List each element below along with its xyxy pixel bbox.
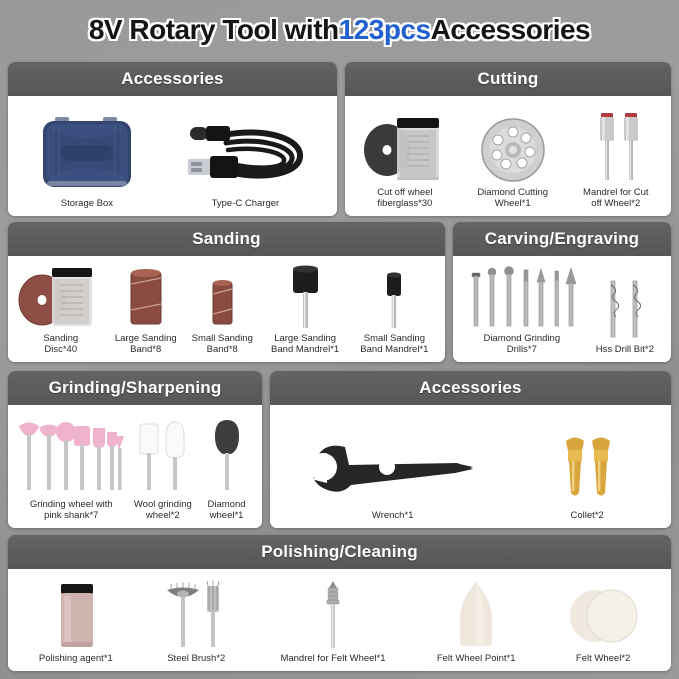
item-hss-drill-bits[interactable]: Hss Drill Bit*2 — [588, 260, 662, 356]
title-part-1: 8V Rotary Tool with — [89, 14, 339, 46]
cut-off-wheel-with-jar-icon — [353, 100, 457, 184]
item-caption: Sanding Disc*40 — [43, 330, 78, 356]
item-type-c-charger[interactable]: Type-C Charger — [163, 100, 328, 210]
large-sanding-band-mandrel-icon — [261, 260, 350, 330]
panel-header: Carving/Engraving — [453, 222, 671, 256]
usb-c-plug — [190, 126, 230, 141]
panel-accessories-mid: Accessories Wrench*1 — [270, 371, 671, 528]
item-caption: Diamond wheel*1 — [208, 496, 246, 522]
panel-header: Grinding/Sharpening — [8, 371, 262, 405]
item-sanding-disc[interactable]: Sanding Disc*40 — [14, 260, 108, 356]
item-large-band-mandrel[interactable]: Large Sanding Band Mandrel*1 — [261, 260, 350, 356]
panel-body: Sanding Disc*40 Large Sanding Band*8 — [8, 256, 445, 362]
item-diamond-grinding-drills[interactable]: Diamond Grinding Drills*7 — [462, 260, 581, 356]
item-cut-off-wheel[interactable]: Cut off wheel fiberglass*30 — [353, 100, 457, 210]
item-mandrel-cut-off[interactable]: Mandrel for Cut off Wheel*2 — [569, 100, 663, 210]
panel-body: Grinding wheel with pink shank*7 — [8, 405, 262, 528]
item-caption: Felt Wheel Point*1 — [437, 650, 516, 665]
steel-brushes-icon — [138, 573, 255, 650]
item-felt-wheels[interactable]: Felt Wheel*2 — [541, 573, 665, 665]
type-c-charger-icon — [163, 100, 328, 195]
panel-header: Cutting — [345, 62, 671, 96]
item-caption: Polishing agent*1 — [39, 650, 113, 665]
panel-header: Accessories — [270, 371, 671, 405]
panel-header: Polishing/Cleaning — [8, 535, 671, 569]
usb-a-plug — [188, 156, 238, 178]
item-collet[interactable]: Collet*2 — [519, 409, 655, 522]
item-diamond-wheel[interactable]: Diamond wheel*1 — [198, 409, 256, 522]
small-sanding-band-icon — [184, 260, 261, 330]
item-caption: Storage Box — [61, 195, 113, 210]
panel-body: Diamond Grinding Drills*7 — [453, 256, 671, 362]
item-pink-grinding-wheels[interactable]: Grinding wheel with pink shank*7 — [14, 409, 128, 522]
storage-box-icon — [17, 100, 156, 195]
panel-carving-engraving: Carving/Engraving — [453, 222, 671, 362]
item-wrench[interactable]: Wrench*1 — [286, 409, 500, 522]
panel-accessories-top: Accessories — [8, 62, 337, 216]
item-caption: Grinding wheel with pink shank*7 — [30, 496, 113, 522]
panel-body: Wrench*1 — [270, 405, 671, 528]
item-caption: Collet*2 — [571, 507, 604, 522]
collet-pair-icon — [519, 409, 655, 507]
small-sanding-band-mandrel-icon — [350, 260, 439, 330]
large-sanding-band-icon — [108, 260, 185, 330]
panel-cutting: Cutting — [345, 62, 671, 216]
item-steel-brushes[interactable]: Steel Brush*2 — [138, 573, 255, 665]
item-caption: Small Sanding Band Mandrel*1 — [360, 330, 428, 356]
wrench-icon — [286, 409, 500, 507]
item-small-sanding-band[interactable]: Small Sanding Band*8 — [184, 260, 261, 356]
mandrel-for-felt-wheel-icon — [255, 573, 411, 650]
item-caption: Large Sanding Band*8 — [115, 330, 177, 356]
item-caption: Large Sanding Band Mandrel*1 — [271, 330, 339, 356]
page-title: 8V Rotary Tool with 123pcs Accessories — [0, 6, 679, 54]
sanding-disc-with-jar-icon — [14, 260, 108, 330]
item-caption: Diamond Cutting Wheel*1 — [477, 184, 548, 210]
item-caption: Type-C Charger — [212, 195, 280, 210]
panel-grinding-sharpening: Grinding/Sharpening — [8, 371, 262, 528]
diamond-cutting-wheel-icon — [461, 100, 565, 184]
item-caption: Cut off wheel fiberglass*30 — [377, 184, 432, 210]
diamond-grinding-drills-icon — [462, 260, 581, 330]
panel-body: Cut off wheel fiberglass*30 — [345, 96, 671, 216]
item-storage-box[interactable]: Storage Box — [17, 100, 156, 210]
mandrel-pair-icon — [569, 100, 663, 184]
wool-grinding-wheels-icon — [129, 409, 197, 496]
polishing-agent-jar-icon — [14, 573, 138, 650]
item-caption: Mandrel for Felt Wheel*1 — [280, 650, 385, 665]
item-caption: Wrench*1 — [372, 507, 414, 522]
item-caption: Wool grinding wheel*2 — [134, 496, 192, 522]
item-small-band-mandrel[interactable]: Small Sanding Band Mandrel*1 — [350, 260, 439, 356]
item-diamond-cutting-wheel[interactable]: Diamond Cutting Wheel*1 — [461, 100, 565, 210]
pink-grinding-wheels-icon — [14, 409, 128, 496]
item-caption: Mandrel for Cut off Wheel*2 — [583, 184, 648, 210]
item-caption: Small Sanding Band*8 — [192, 330, 253, 356]
item-caption: Hss Drill Bit*2 — [596, 341, 654, 356]
item-caption: Diamond Grinding Drills*7 — [484, 330, 561, 356]
item-wool-grinding-wheels[interactable]: Wool grinding wheel*2 — [129, 409, 197, 522]
felt-wheels-icon — [541, 573, 665, 650]
product-infographic: 8V Rotary Tool with 123pcs Accessories A… — [0, 0, 679, 679]
item-large-sanding-band[interactable]: Large Sanding Band*8 — [108, 260, 185, 356]
panel-header: Sanding — [8, 222, 445, 256]
item-polishing-agent[interactable]: Polishing agent*1 — [14, 573, 138, 665]
title-accent-count: 123pcs — [339, 14, 431, 46]
diamond-wheel-icon — [198, 409, 256, 496]
hss-drill-bits-icon — [588, 260, 662, 341]
panel-polishing-cleaning: Polishing/Cleaning Polishing agent*1 — [8, 535, 671, 671]
item-caption: Felt Wheel*2 — [576, 650, 630, 665]
panel-sanding: Sanding — [8, 222, 445, 362]
item-mandrel-felt-wheel[interactable]: Mandrel for Felt Wheel*1 — [255, 573, 411, 665]
title-part-2: Accessories — [431, 14, 591, 46]
item-felt-wheel-point[interactable]: Felt Wheel Point*1 — [411, 573, 541, 665]
panel-body: Storage Box — [8, 96, 337, 216]
felt-wheel-point-icon — [411, 573, 541, 650]
panel-body: Polishing agent*1 — [8, 569, 671, 671]
item-caption: Steel Brush*2 — [167, 650, 225, 665]
panel-header: Accessories — [8, 62, 337, 96]
